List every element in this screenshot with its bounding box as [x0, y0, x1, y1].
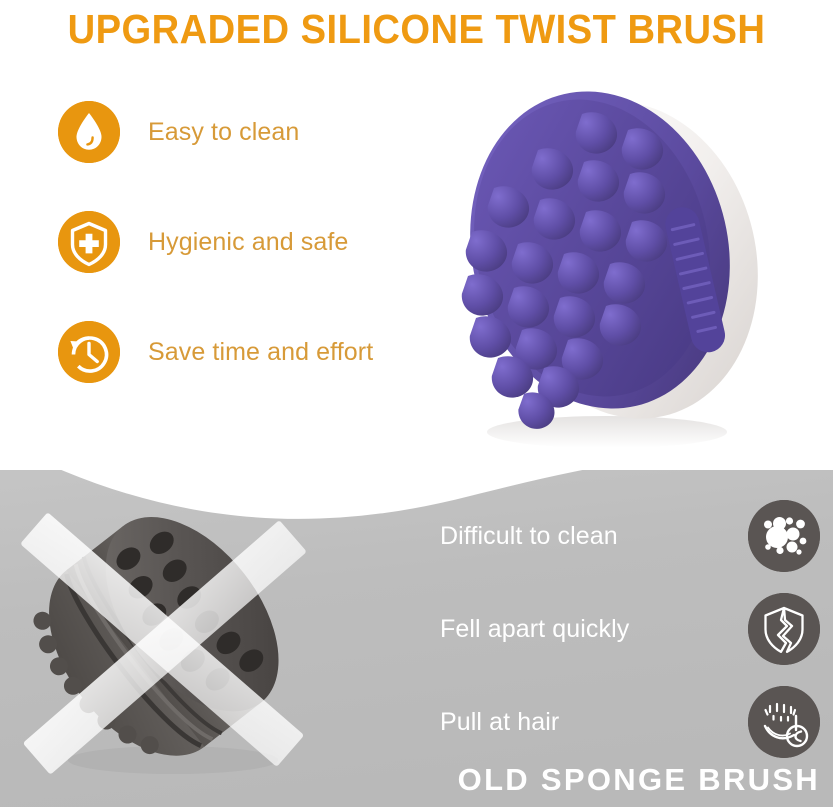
water-drop-icon — [58, 101, 120, 163]
clock-rotate-icon — [58, 321, 120, 383]
drawback-item-difficult-to-clean: Difficult to clean — [440, 500, 820, 572]
germs-icon — [748, 500, 820, 572]
benefit-item-save-time-and-effort: Save time and effort — [58, 316, 448, 388]
drawback-list: Difficult to clean — [440, 500, 820, 779]
brush-illustration — [432, 54, 792, 454]
shield-cross-icon — [58, 211, 120, 273]
page-title: UPGRADED SILICONE TWIST BRUSH — [29, 6, 804, 53]
benefit-label: Save time and effort — [148, 338, 373, 367]
infographic-page: UPGRADED SILICONE TWIST BRUSH Easy to cl… — [0, 0, 833, 807]
benefit-label: Easy to clean — [148, 118, 299, 147]
benefit-list: Easy to clean Hygienic and safe — [58, 96, 448, 426]
sponge-illustration — [8, 492, 328, 792]
benefit-item-easy-to-clean: Easy to clean — [58, 96, 448, 168]
broken-shield-icon — [748, 593, 820, 665]
silicone-twist-brush-image — [432, 54, 792, 454]
benefit-label: Hygienic and safe — [148, 228, 348, 257]
drawback-label: Pull at hair — [440, 708, 559, 737]
old-product-title: OLD SPONGE BRUSH — [0, 762, 820, 798]
old-sponge-brush-image — [8, 492, 328, 792]
drawback-item-fell-apart-quickly: Fell apart quickly — [440, 593, 820, 665]
benefit-item-hygienic-and-safe: Hygienic and safe — [58, 206, 448, 278]
drawback-label: Difficult to clean — [440, 522, 618, 551]
drawback-item-pull-at-hair: Pull at hair — [440, 686, 820, 758]
drawback-label: Fell apart quickly — [440, 615, 629, 644]
hair-loss-icon — [748, 686, 820, 758]
